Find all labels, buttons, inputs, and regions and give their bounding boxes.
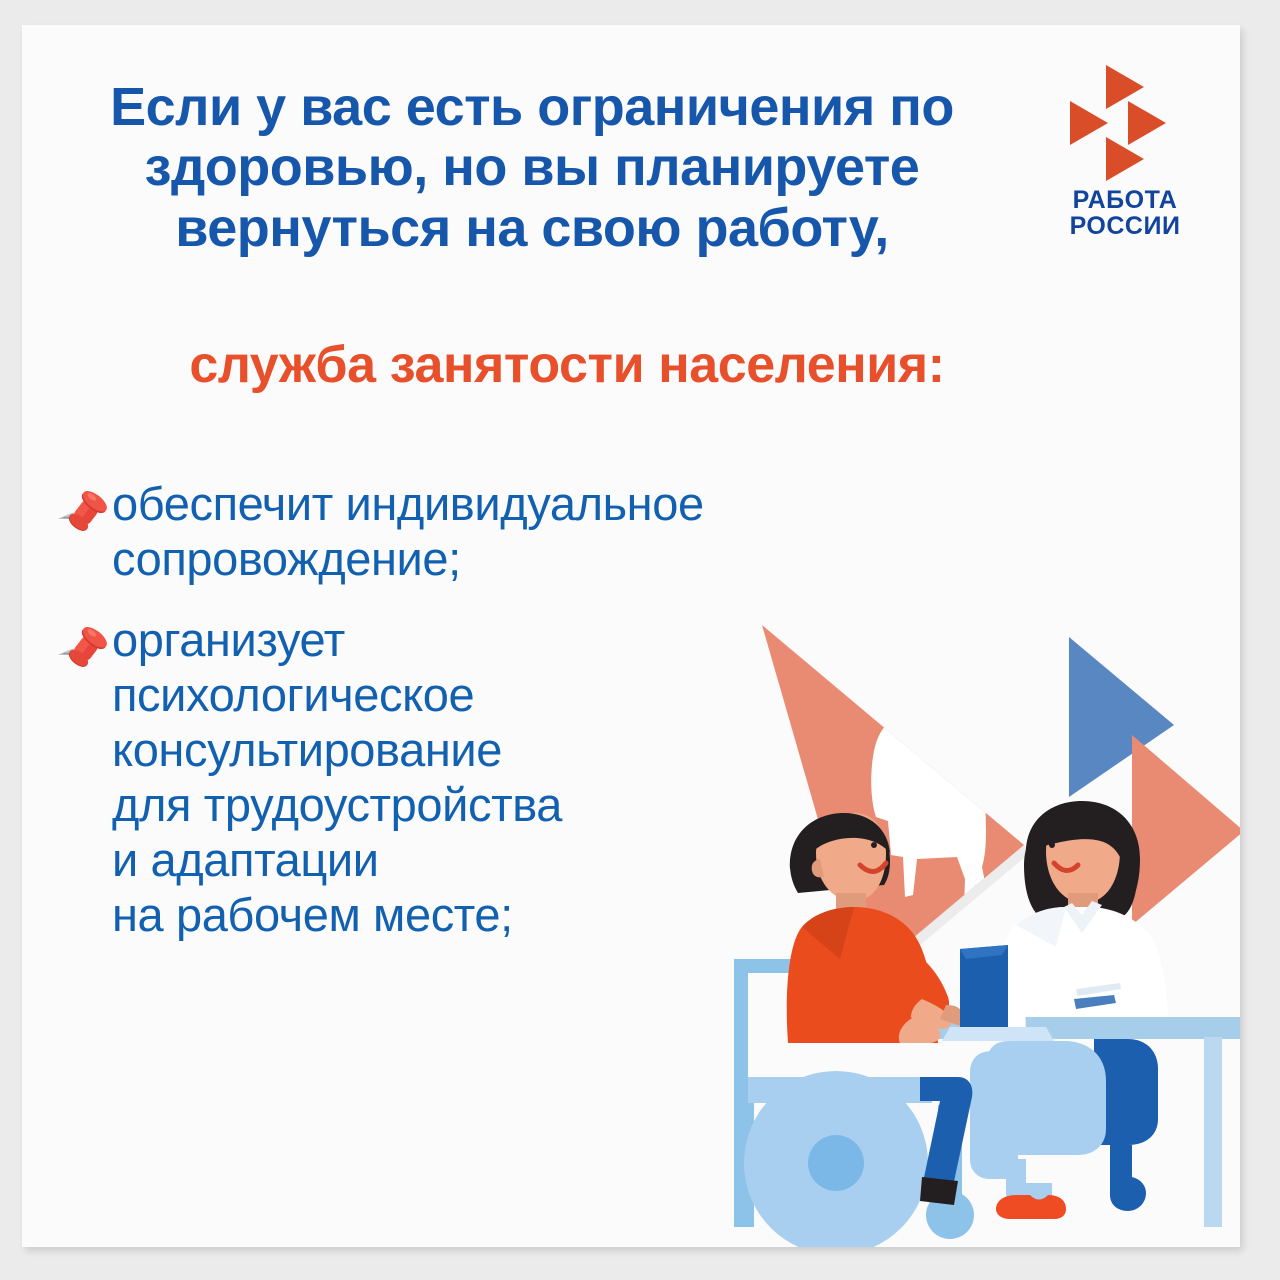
logo-triangle-left-icon — [1070, 101, 1108, 145]
laptop-base — [942, 1027, 1054, 1041]
desk-leg-right — [1204, 1037, 1222, 1227]
list-item-label: обеспечит индивидуальное сопровождение; — [112, 477, 704, 587]
logo-wordmark: РАБОТА РОССИИ — [1045, 187, 1205, 239]
logo-mark — [1070, 65, 1180, 175]
page-title: Если у вас есть ограничения по здоровью,… — [52, 77, 1012, 258]
wheelchair-consultation-illustration — [724, 607, 1240, 1247]
list-item: организует психологическое консультирова… — [58, 613, 778, 943]
shoe-dark — [920, 1177, 958, 1205]
office-chair — [970, 1039, 1158, 1219]
page-subtitle: служба занятости населения: — [62, 335, 1072, 395]
rabota-rossii-logo: РАБОТА РОССИИ — [1045, 65, 1205, 255]
salmon-play-triangle — [1132, 735, 1240, 925]
pushpin-icon — [58, 623, 112, 677]
logo-line-2: РОССИИ — [1045, 213, 1205, 239]
service-list: обеспечит индивидуальное сопровождение; — [58, 477, 778, 969]
list-item: обеспечит индивидуальное сопровождение; — [58, 477, 778, 587]
pushpin-icon — [58, 487, 112, 541]
poster-card: РАБОТА РОССИИ Если у вас есть ограничени… — [22, 25, 1240, 1247]
logo-line-1: РАБОТА — [1045, 187, 1205, 213]
list-item-label: организует психологическое консультирова… — [112, 613, 562, 943]
logo-triangle-bottom-icon — [1106, 137, 1144, 181]
